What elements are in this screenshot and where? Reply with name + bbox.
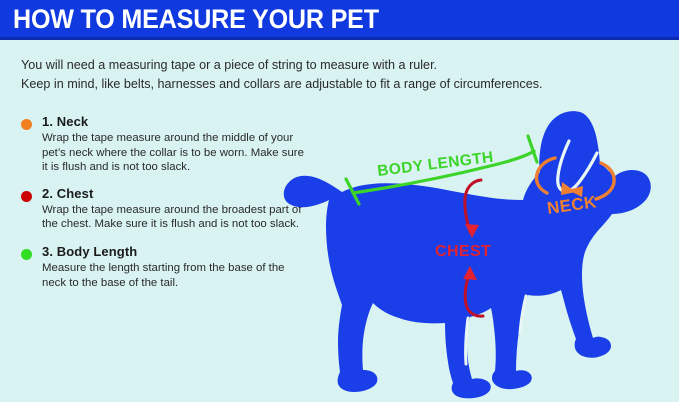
- intro-line-1: You will need a measuring tape or a piec…: [21, 56, 661, 75]
- step-body: Measure the length starting from the bas…: [42, 261, 310, 290]
- measuring-guide-page: HOW TO MEASURE YOUR PET You will need a …: [0, 0, 679, 402]
- intro-text: You will need a measuring tape or a piec…: [21, 56, 661, 93]
- steps-list: 1. Neck Wrap the tape measure around the…: [20, 114, 310, 301]
- list-item: 3. Body Length Measure the length starti…: [20, 244, 310, 290]
- body-length-label: BODY LENGTH: [376, 149, 494, 180]
- bullet-icon-body-length: [21, 249, 32, 260]
- step-body: Wrap the tape measure around the middle …: [42, 131, 310, 175]
- header-divider: [0, 37, 679, 40]
- chest-label: CHEST: [435, 243, 491, 260]
- bullet-icon-neck: [21, 119, 32, 130]
- list-item: 1. Neck Wrap the tape measure around the…: [20, 114, 310, 175]
- step-heading: 3. Body Length: [42, 244, 310, 260]
- intro-line-2: Keep in mind, like belts, harnesses and …: [21, 75, 661, 94]
- bullet-icon-chest: [21, 191, 32, 202]
- dog-measurement-diagram: BODY LENGTH NECK CHEST: [280, 96, 679, 402]
- step-heading: 1. Neck: [42, 114, 310, 130]
- step-body: Wrap the tape measure around the broades…: [42, 203, 310, 232]
- page-title: HOW TO MEASURE YOUR PET: [13, 4, 379, 34]
- list-item: 2. Chest Wrap the tape measure around th…: [20, 186, 310, 232]
- step-heading: 2. Chest: [42, 186, 310, 202]
